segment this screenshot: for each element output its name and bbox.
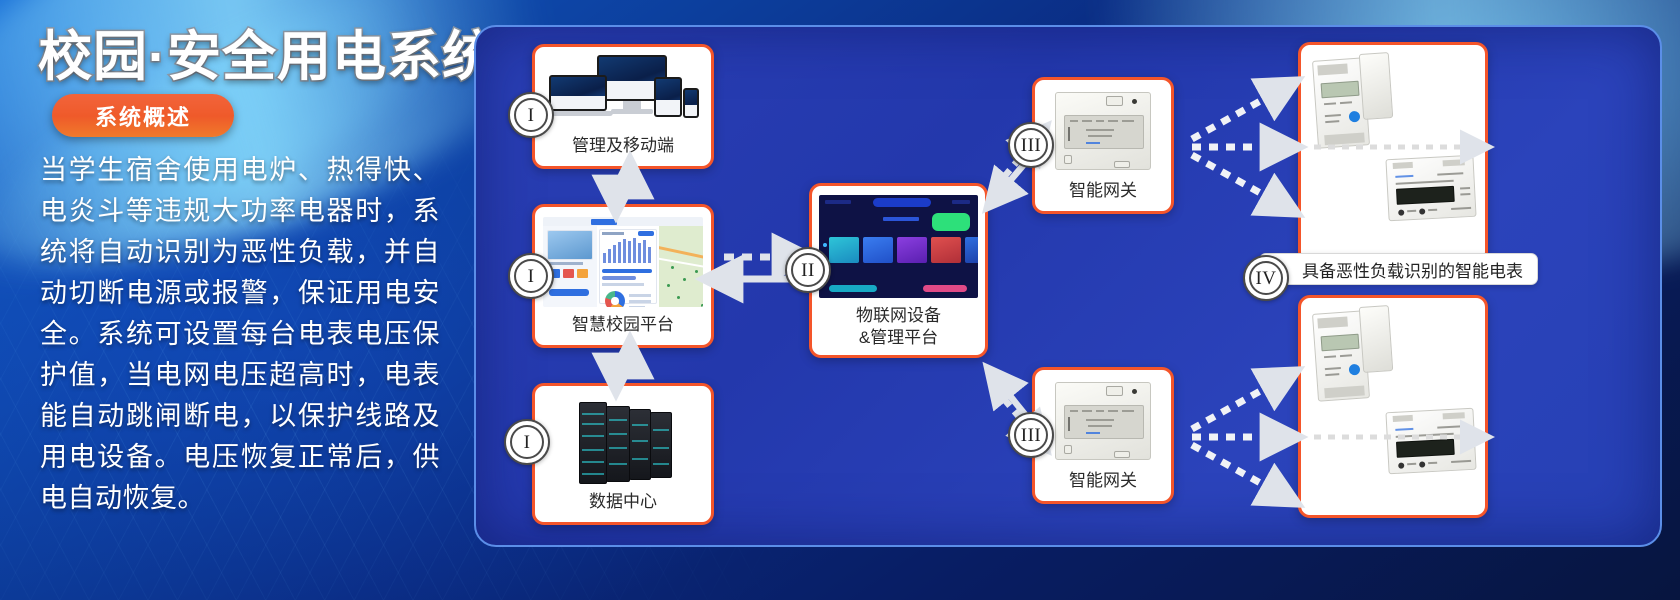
connector-mobile-campus [616,177,630,197]
badge-numeral-i: I [504,419,550,465]
badge-numeral-text: IV [1255,269,1276,288]
badge-numeral-text: I [524,433,531,452]
smart-meter-caption-text: 具备恶性负载识别的智能电表 [1302,257,1523,282]
intro-column: 校园·安全用电系统 系统概述 当学生宿舍使用电炉、热得快、电炎斗等违规大功率电器… [0,0,470,600]
connector-campus-datacenter [616,357,630,375]
badge-numeral-ii: II [785,247,831,293]
overview-badge[interactable]: 系统概述 [52,94,234,137]
badge-numeral-iii: III [1008,412,1054,458]
diagram-connectors [476,27,1664,549]
badge-numeral-text: III [1021,136,1041,155]
badge-numeral-text: III [1021,426,1041,445]
badge-numeral-text: I [528,267,535,286]
badge-numeral-text: I [528,106,535,125]
architecture-diagram-panel: 管理及移动端 I [474,25,1662,547]
smart-meter-caption: 具备恶性负载识别的智能电表 [1259,253,1538,285]
connector-campus-iot [721,257,794,279]
badge-numeral-i: I [508,253,554,299]
overview-badge-label: 系统概述 [95,100,191,132]
connector-gateway-bottom-meters [1192,379,1282,495]
intro-paragraph: 当学生宿舍使用电炉、热得快、电炎斗等违规大功率电器时，系统将自动识别为恶性负载，… [40,150,440,519]
badge-numeral-iv: IV [1243,255,1289,301]
badge-numeral-i: I [508,92,554,138]
page-title: 校园·安全用电系统 [38,12,497,91]
badge-numeral-iii: III [1008,122,1054,168]
connector-gateway-top-meters [1192,89,1282,205]
badge-numeral-text: II [801,261,815,280]
connector-meter-internal [1314,147,1476,437]
